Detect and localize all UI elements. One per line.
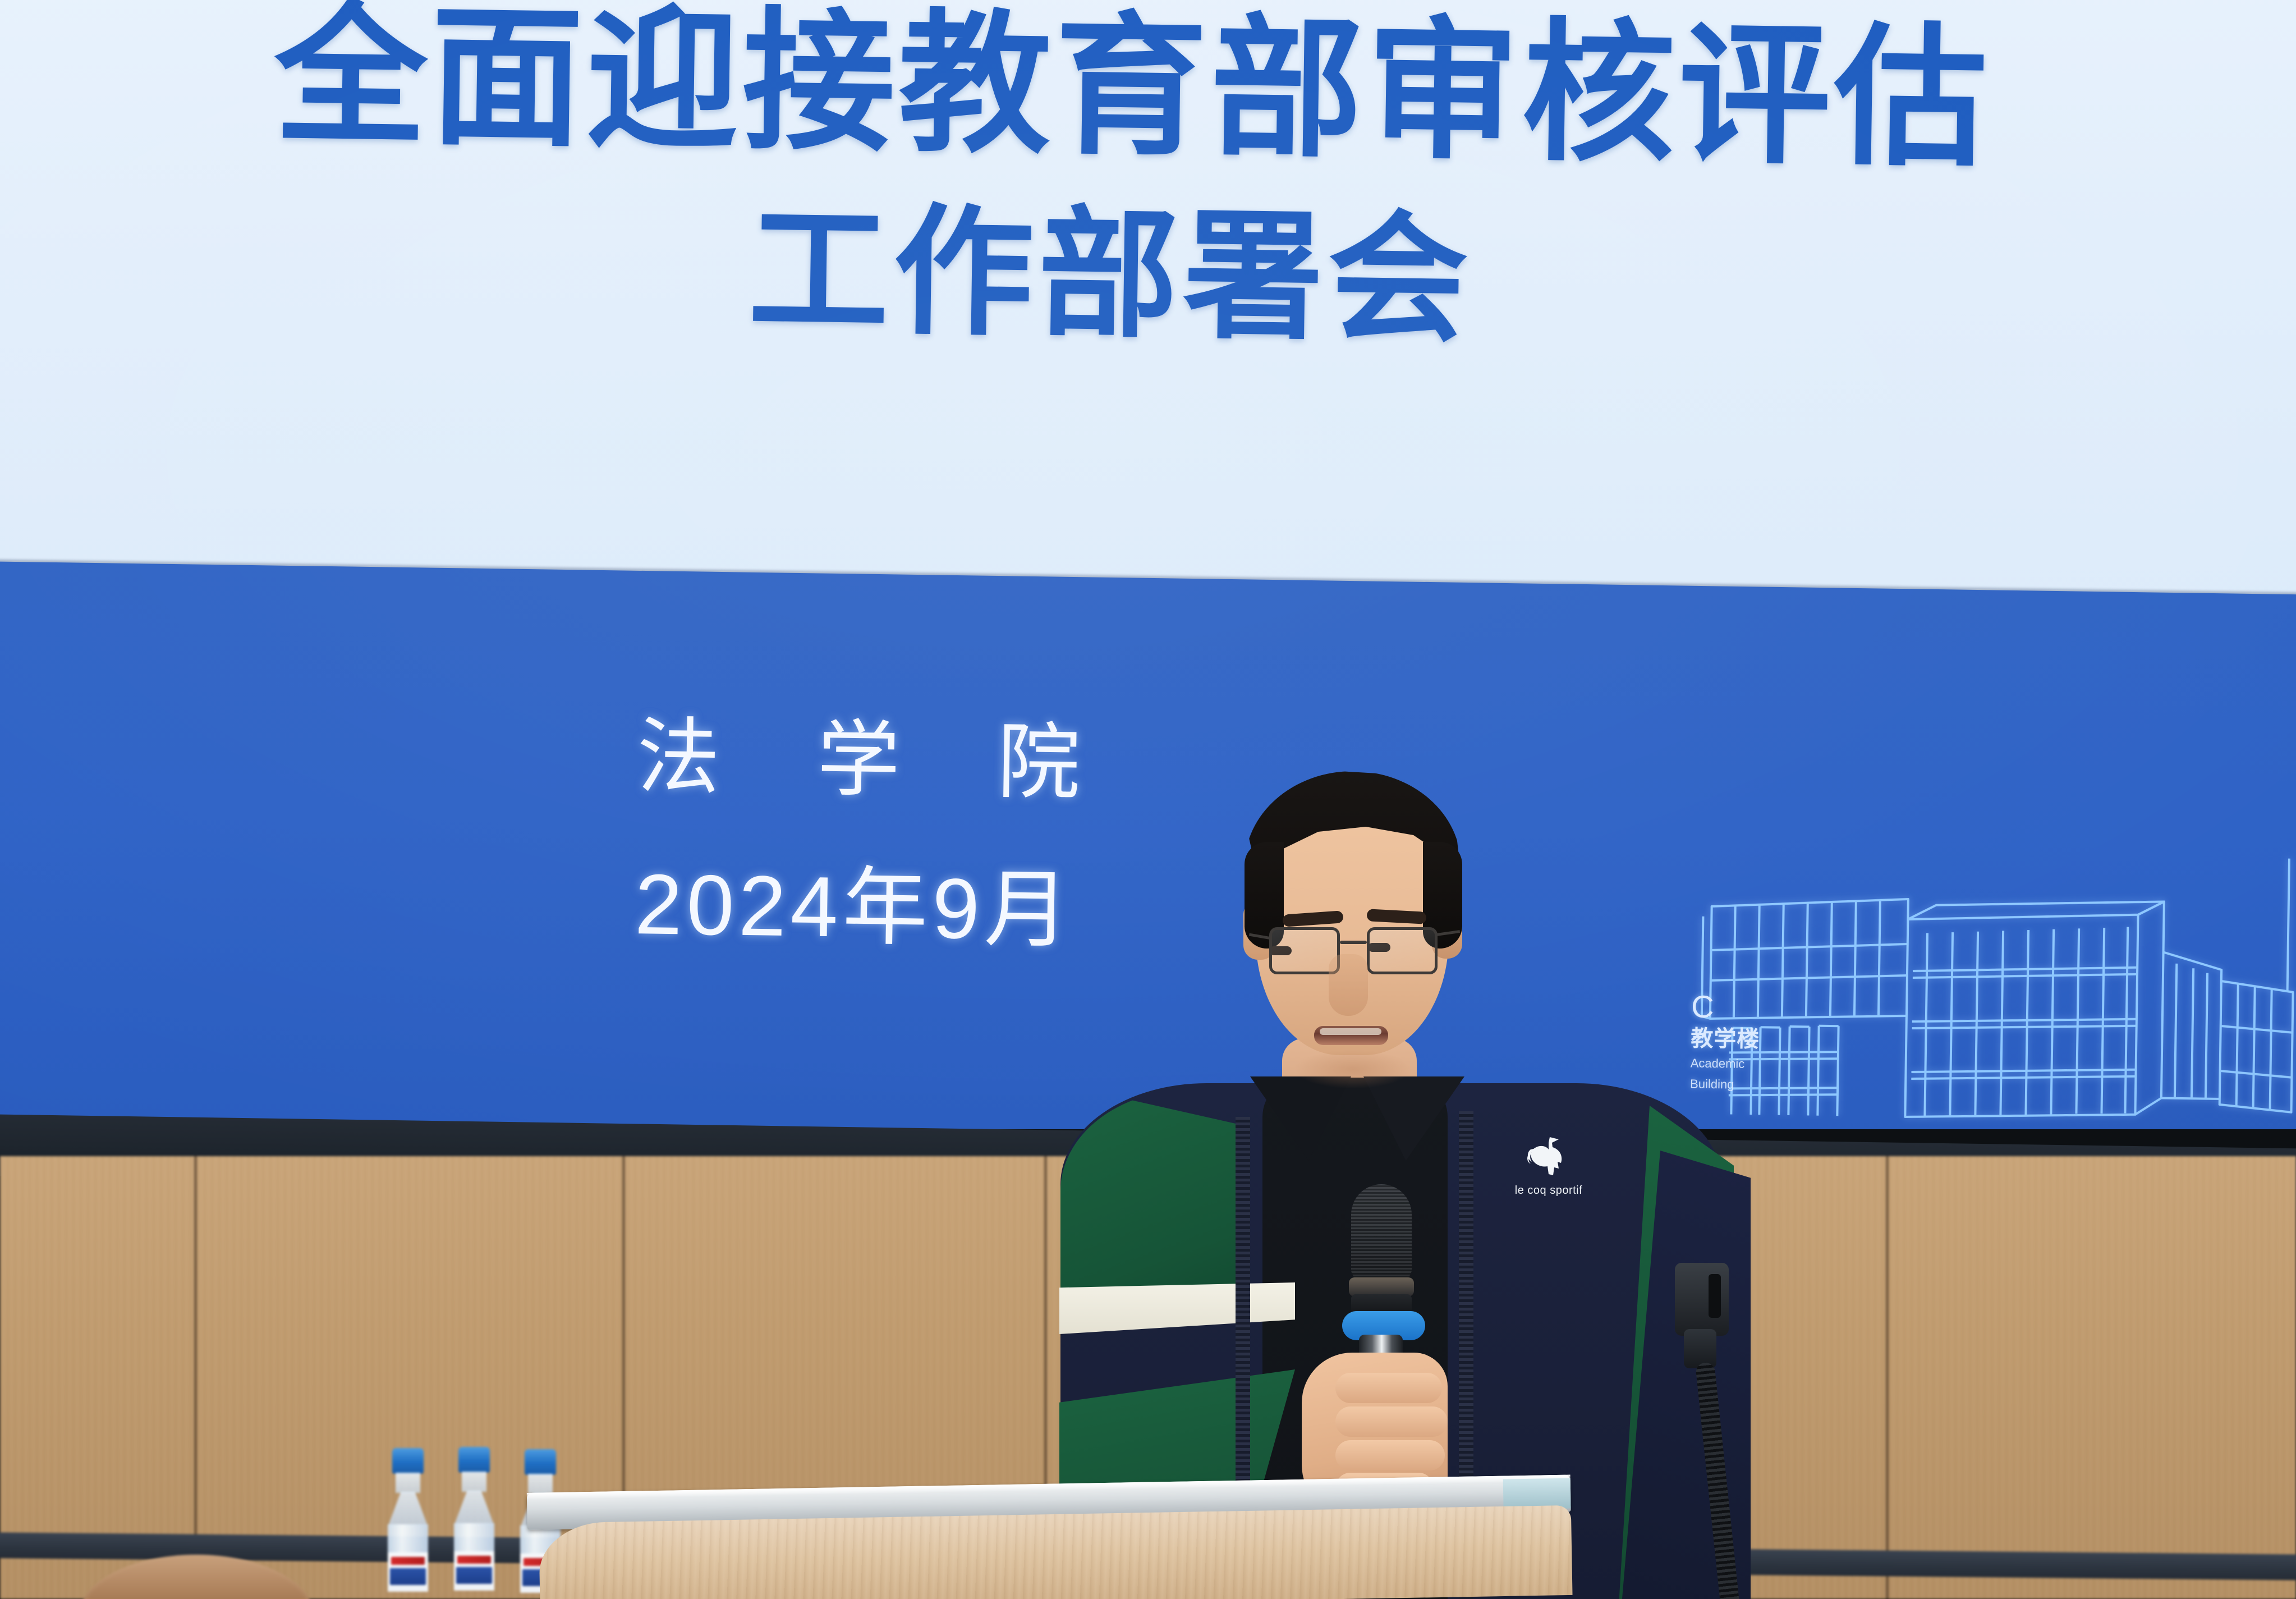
rooster-icon	[1522, 1134, 1576, 1183]
teeth	[1320, 1028, 1381, 1035]
wood-panel-seam	[1885, 1156, 1889, 1599]
gooseneck-flex-tube	[1695, 1362, 1740, 1599]
bottle-neck	[396, 1473, 420, 1493]
slide-headline-line2: 工作部署会	[0, 185, 2260, 365]
bottle-cap	[525, 1449, 556, 1475]
bottle-label-blue-band	[390, 1568, 426, 1585]
gooseneck-mic-clip	[1675, 1263, 1798, 1599]
lectern-top-accent	[1503, 1478, 1571, 1510]
bottle-neck	[528, 1474, 553, 1494]
bottle-label-red-band	[457, 1556, 491, 1564]
slide-headline-group: 全面迎接教育部审核评估 工作部署会	[0, 0, 2296, 584]
nose	[1329, 954, 1368, 1016]
finger	[1335, 1373, 1442, 1403]
finger	[1335, 1440, 1445, 1470]
mic-clip-slot	[1709, 1274, 1721, 1318]
finger	[1335, 1406, 1448, 1437]
microphone-grille	[1351, 1184, 1412, 1280]
brand-logo: le coq sportif	[1509, 1134, 1588, 1208]
eyeglass-lens-right	[1367, 927, 1438, 974]
eyeglass-bridge	[1340, 941, 1367, 944]
bottle-label	[454, 1551, 494, 1591]
mic-clip-joint	[1684, 1329, 1716, 1368]
brand-name: le coq sportif	[1509, 1184, 1588, 1197]
wood-panel-seam	[194, 1156, 198, 1599]
bottle-cap	[458, 1447, 490, 1473]
bottle-neck	[462, 1472, 486, 1492]
speaker-head	[1240, 758, 1464, 1061]
slide-date: 2024年9月	[634, 835, 1075, 964]
microphone-ring-lower	[1351, 1294, 1412, 1313]
jacket-green-panel-left	[1060, 1090, 1246, 1314]
bottle-cap	[392, 1448, 424, 1474]
slide-headline-line1: 全面迎接教育部审核评估	[0, 0, 2296, 185]
speaker-figure: le coq sportif	[1027, 690, 1767, 1599]
chin-shadow	[1294, 1050, 1412, 1089]
bottle-label-blue-band	[456, 1567, 492, 1584]
bottle-label-red-band	[391, 1557, 425, 1565]
conference-photo-scene: 全面迎接教育部审核评估 工作部署会 法 学 院 2024年9月	[0, 0, 2296, 1599]
bottle-label	[388, 1552, 428, 1592]
microphone-ring	[1349, 1277, 1414, 1296]
